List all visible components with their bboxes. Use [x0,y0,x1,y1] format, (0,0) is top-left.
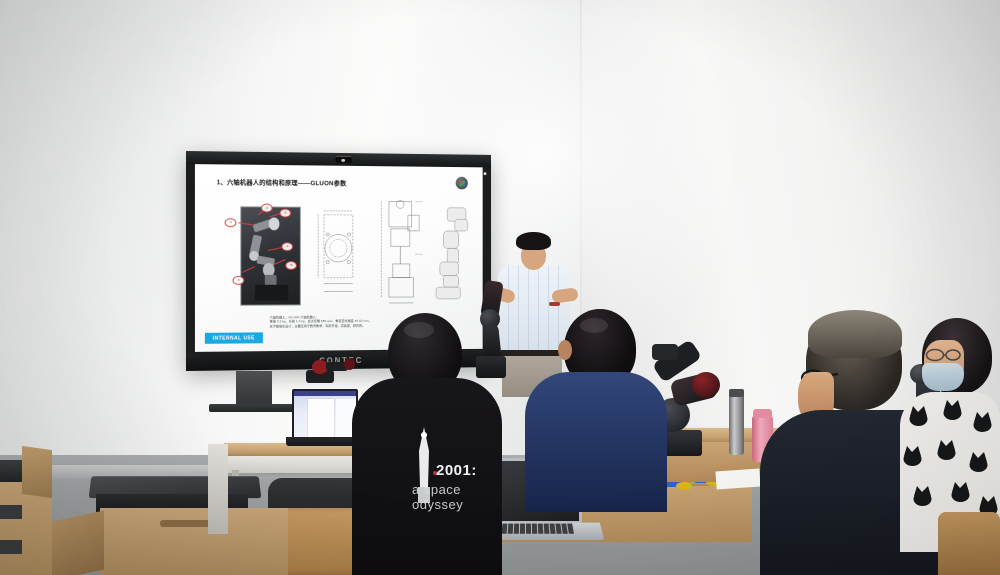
slide-robot-base [255,285,288,301]
attendee-navy-polo-torso [525,372,667,512]
slide-title: 1、六轴机器人的结构和原理——GLUON参数 [217,177,347,187]
handheld-robot-arm-base [476,356,506,378]
robot-arm-right-joint2 [692,372,720,398]
hair-highlight [580,318,608,333]
slide-callout: J6 [232,276,244,285]
steel-thermos-flask [729,393,744,455]
cardboard-box-flap [52,510,104,575]
presenter-hair [516,232,551,250]
slide-cad-drawing-side [374,195,429,308]
omni-wheel-hub [676,482,692,490]
internal-use-badge: INTERNAL USE [205,332,263,343]
paper-sheet [715,468,760,489]
laptop-back-doc [308,399,334,437]
classroom-scene: 1、六轴机器人的结构和原理——GLUON参数 J1 J2 J3 [0,0,1000,575]
slide-callout: J2 [261,204,273,213]
robot-arm-right-gripper [652,344,678,360]
cardboard-box-left-tape [0,540,22,554]
tshirt-graphic-text-line2: a space odyssey [412,482,463,512]
face-mask-icon [922,363,964,391]
slide-robot-photo [240,206,300,305]
cardboard-box-left-tape [0,505,22,519]
cardboard-box-foreground [100,508,288,575]
attendee-glasses-hair-grey [808,310,902,358]
side-cabinet [208,444,228,534]
eyeglasses-icon [925,348,961,362]
laptop-back-titlebar [294,391,356,396]
slide-callout: J5 [285,261,297,270]
hair-highlight [404,322,434,338]
attendee-navy-polo-ear [558,340,572,360]
display-indicator-dot [484,172,487,175]
slide-callout: J1 [225,218,237,227]
cardboard-flap-upright [22,446,52,498]
company-logo [456,177,468,190]
display-stand-foot [209,404,301,412]
presenter-belt [501,350,563,356]
slide-callout: J4 [281,242,293,251]
slide-callout: J3 [279,209,291,218]
webcam-icon [335,156,351,163]
pink-water-bottle-cap [753,409,772,418]
presenter-wristband [549,302,560,306]
laptop-back-screen[interactable] [292,389,358,439]
thermos-cap [729,389,744,397]
attendee-masked-chair[interactable] [938,512,1000,575]
slide-robot-3d-render [423,202,477,307]
robot-arm-back-left-gripper [344,358,355,370]
slide-cad-drawing-front [310,209,369,308]
tshirt-graphic-text-line1: 2001: [436,462,477,479]
